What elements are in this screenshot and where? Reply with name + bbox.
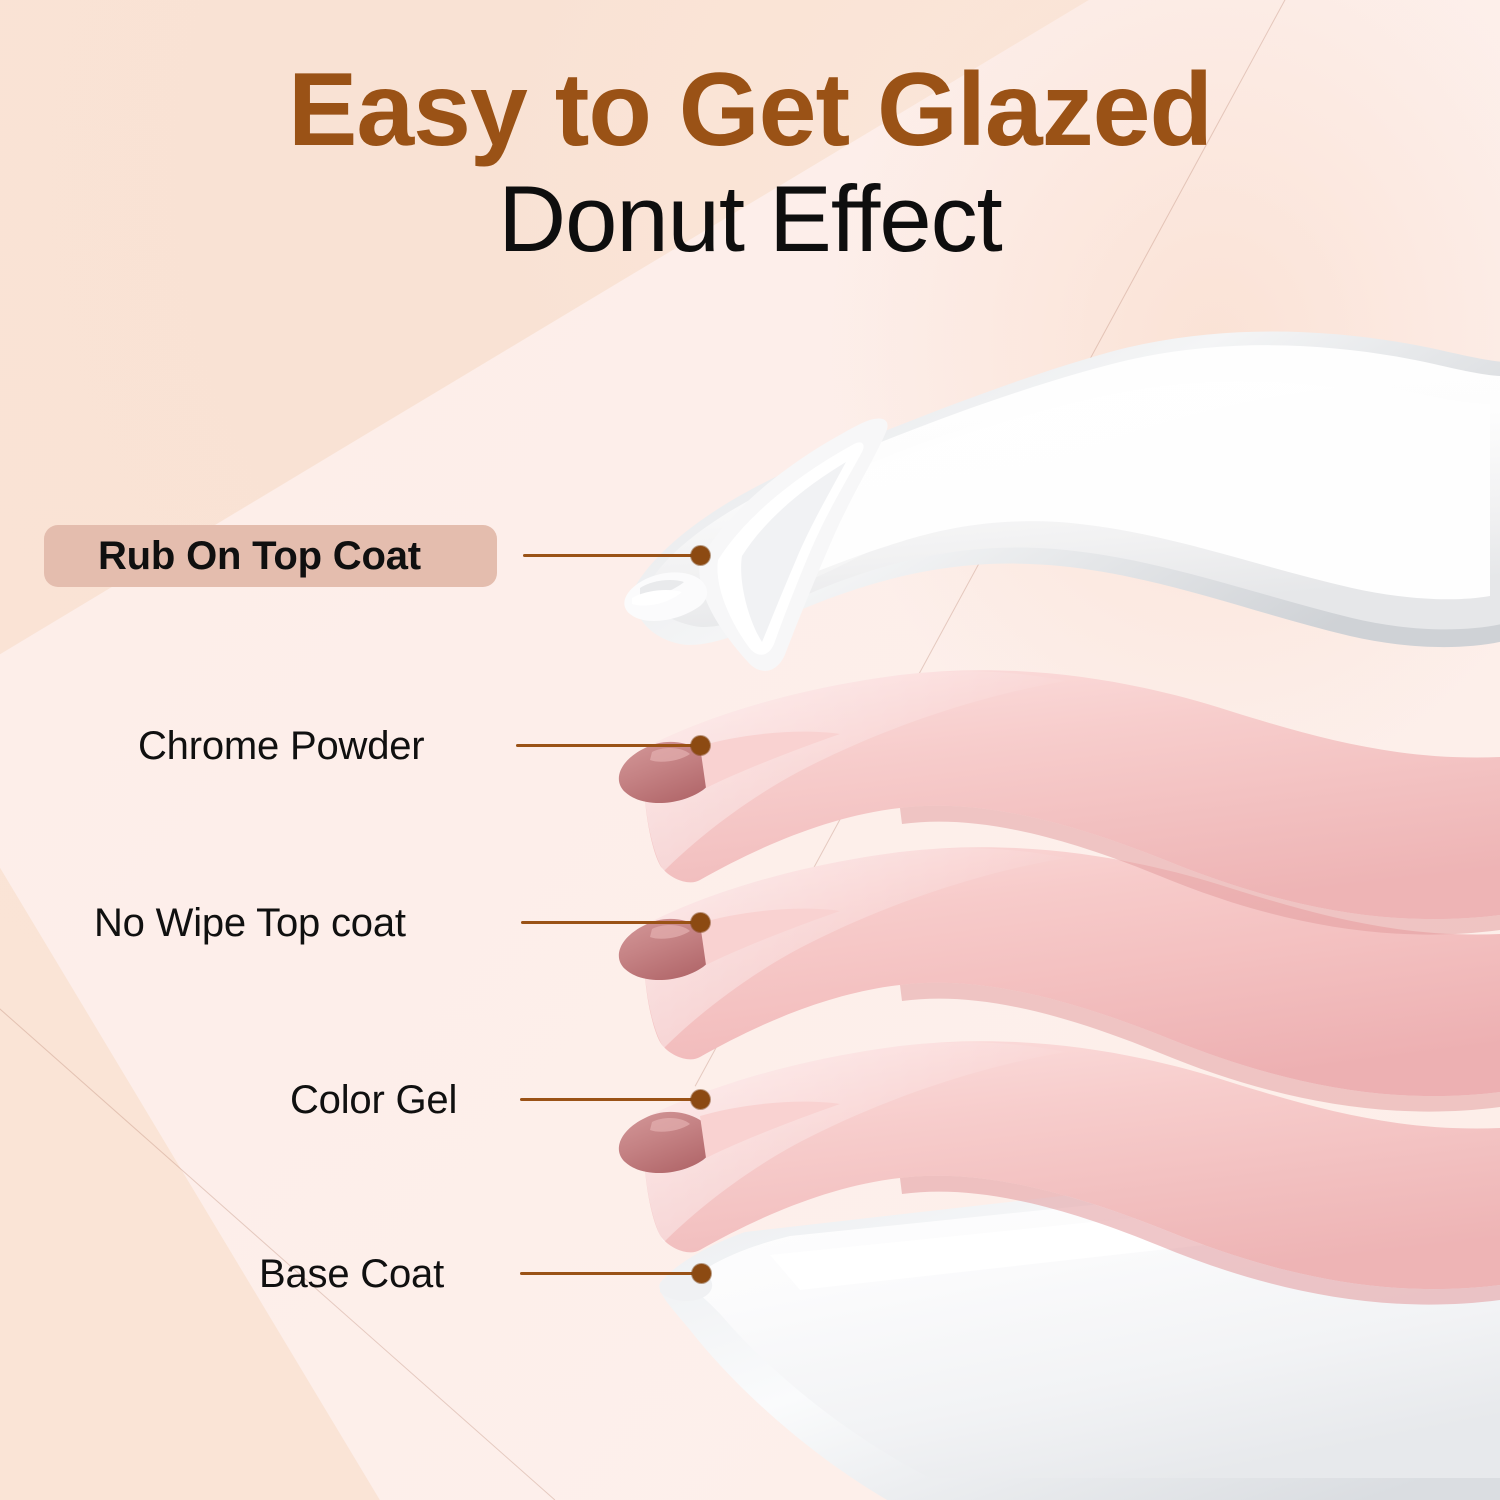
callout-color-gel[interactable]: Color Gel — [290, 1070, 457, 1130]
leader-dot-color-gel — [691, 1090, 710, 1109]
callout-label-color-gel: Color Gel — [290, 1078, 457, 1123]
leader-line-chrome-powder — [516, 744, 699, 747]
leader-line-no-wipe-top-coat — [521, 921, 699, 924]
callout-no-wipe-top-coat[interactable]: No Wipe Top coat — [94, 893, 406, 953]
leader-dot-base-coat — [692, 1264, 711, 1283]
page-title: Easy to Get Glazed Donut Effect — [0, 58, 1500, 270]
leader-dot-chrome-powder — [691, 736, 710, 755]
leader-dot-no-wipe-top-coat — [691, 913, 710, 932]
callout-rub-on-top-coat[interactable]: Rub On Top Coat — [98, 526, 421, 586]
title-line-primary: Easy to Get Glazed — [0, 58, 1500, 162]
infographic-canvas: Easy to Get Glazed Donut Effect Rub On T… — [0, 0, 1500, 1500]
title-line-secondary: Donut Effect — [0, 168, 1500, 270]
leader-line-base-coat — [520, 1272, 700, 1275]
callout-label-chrome-powder: Chrome Powder — [138, 724, 424, 769]
leader-line-color-gel — [520, 1098, 699, 1101]
leader-dot-rub-on-top-coat — [691, 546, 710, 565]
callout-label-rub-on-top-coat: Rub On Top Coat — [98, 534, 421, 579]
leader-line-rub-on-top-coat — [523, 554, 699, 557]
callout-label-base-coat: Base Coat — [259, 1252, 444, 1297]
callout-base-coat[interactable]: Base Coat — [259, 1244, 444, 1304]
callout-chrome-powder[interactable]: Chrome Powder — [138, 716, 424, 776]
callout-label-no-wipe-top-coat: No Wipe Top coat — [94, 901, 406, 946]
